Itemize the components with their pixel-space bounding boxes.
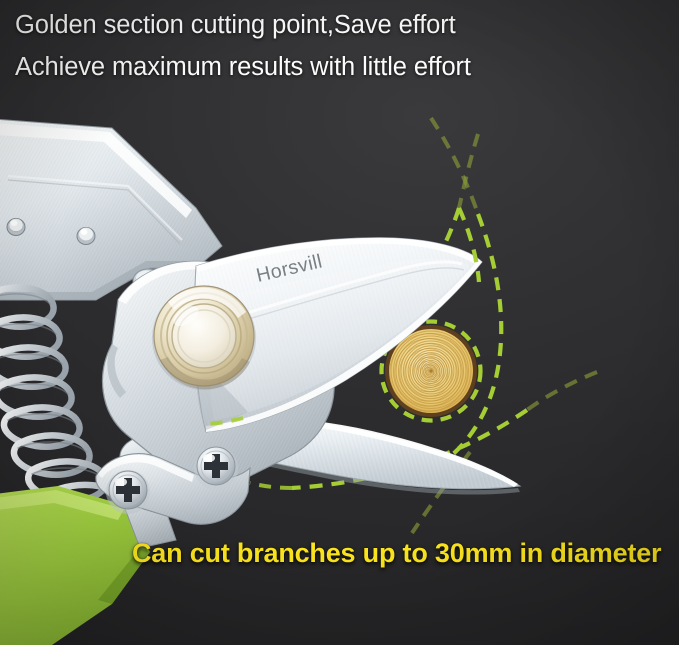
- headline-line-1: Golden section cutting point,Save effort: [15, 11, 456, 40]
- product-image-canvas: .dash{fill:none;stroke:#a5ce34;stroke-wi…: [0, 0, 679, 645]
- headline-line-2: Achieve maximum results with little effo…: [15, 53, 471, 82]
- arc-over-lower-blade: [250, 483, 292, 488]
- bottom-caption: Can cut branches up to 30mm in diameter: [132, 538, 661, 569]
- arc-crossing-front: [459, 208, 479, 282]
- arc-over-blade: [202, 418, 243, 424]
